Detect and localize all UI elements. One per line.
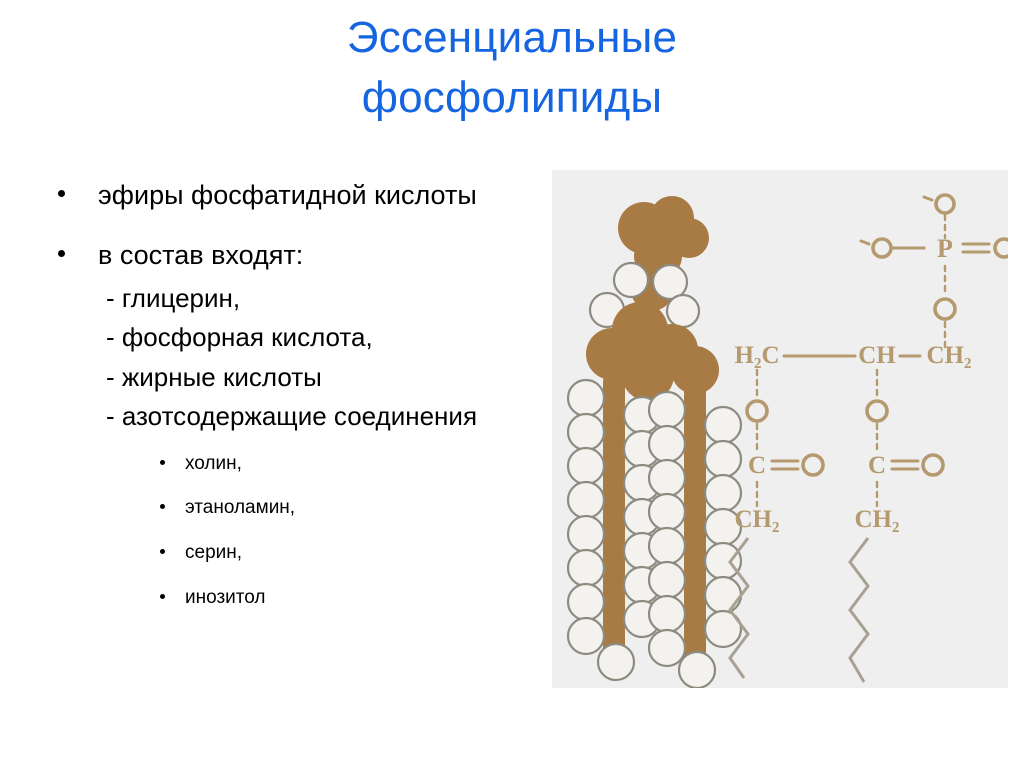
component-dash-list: - глицерин, - фосфорная кислота, - жирны…: [98, 279, 520, 437]
page-title: Эссенциальные фосфолипиды: [0, 8, 1024, 129]
list-item-esters: эфиры фосфатидной кислоты: [0, 176, 520, 214]
bullet-dot-icon: [160, 504, 165, 509]
atom-label-h2c: H₂C: [735, 342, 780, 369]
page-title-line-2: фосфолипиды: [0, 68, 1024, 128]
list-item-nitrogen-compounds: - азотсодержащие соединения: [98, 397, 520, 437]
list-item-label: эфиры фосфатидной кислоты: [98, 176, 520, 214]
slide-canvas: Эссенциальные фосфолипиды эфиры фосфатид…: [0, 0, 1024, 767]
model-tail-a: [568, 380, 660, 680]
page-title-line-1: Эссенциальные: [0, 8, 1024, 68]
list-item-choline: холин,: [98, 451, 520, 477]
list-item-inositol: инозитол: [98, 585, 520, 611]
nitrogen-compound-list: холин, этаноламин, серин, инозитол: [98, 451, 520, 611]
atom-label-carbonyl-c-right: C: [868, 452, 886, 479]
bullet-dot-icon: [160, 594, 165, 599]
list-item-serine: серин,: [98, 540, 520, 566]
list-item-glycerin: - глицерин,: [98, 279, 520, 319]
list-item-label: серин,: [185, 542, 242, 563]
list-item-label: инозитол: [185, 587, 266, 608]
list-item-label: в состав входят:: [98, 236, 520, 274]
bullet-dot-icon: [58, 190, 65, 197]
content-body: эфиры фосфатидной кислоты в состав входя…: [0, 176, 520, 756]
atom-label-methylene-right: CH₂: [855, 506, 900, 533]
list-item-label: холин,: [185, 453, 242, 474]
model-tail-b: [649, 390, 741, 688]
list-item-phosphoric-acid: - фосфорная кислота,: [98, 318, 520, 358]
atom-label-methylene-left: CH₂: [735, 506, 780, 533]
phospholipid-structure-image: .mdl { fill:#A87B45; } .ring { fill:#F4F…: [552, 170, 1008, 688]
list-item-fatty-acids: - жирные кислоты: [98, 358, 520, 398]
list-item-ethanolamine: этаноламин,: [98, 495, 520, 521]
main-bullet-list: эфиры фосфатидной кислоты в состав входя…: [0, 176, 520, 610]
atom-label-carbonyl-c-left: C: [748, 452, 766, 479]
bullet-dot-icon: [58, 250, 65, 257]
phospholipid-diagram-svg: .mdl { fill:#A87B45; } .ring { fill:#F4F…: [552, 170, 1008, 688]
atom-label-phosphorus: P: [937, 234, 953, 263]
bullet-dot-icon: [160, 549, 165, 554]
atom-label-ch: CH: [858, 342, 896, 369]
bullet-dot-icon: [160, 460, 165, 465]
atom-label-ch2: CH₂: [927, 342, 972, 369]
list-item-label: этаноламин,: [185, 497, 295, 518]
list-item-composition: в состав входят: - глицерин, - фосфорная…: [0, 236, 520, 610]
